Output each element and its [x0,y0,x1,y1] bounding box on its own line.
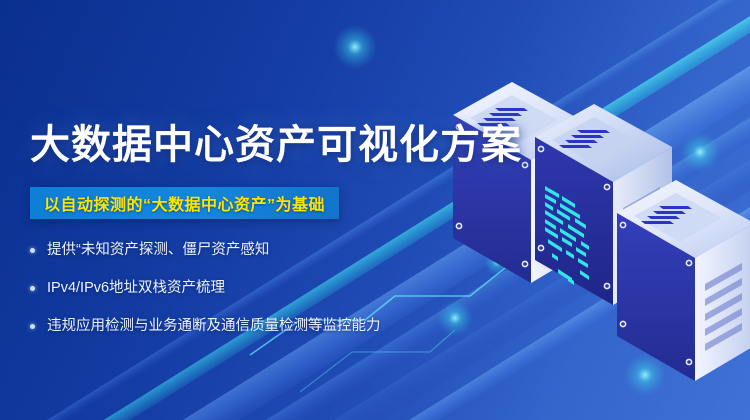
list-item: 违规应用检测与业务通断及通信质量检测等监控能力 [30,312,381,340]
list-item: IPv4/IPv6地址双栈资产梳理 [30,274,381,302]
list-item: 提供“未知资产探测、僵尸资产感知 [30,236,381,264]
bullet-text: IPv4/IPv6地址双栈资产梳理 [47,278,225,298]
text-content-column: 大数据中心资产可视化方案 以自动探测的“大数据中心资产”为基础 提供“未知资产探… [0,0,470,420]
promo-banner: 大数据中心资产可视化方案 以自动探测的“大数据中心资产”为基础 提供“未知资产探… [0,0,750,420]
bullet-dot-icon [30,286,35,291]
bullet-dot-icon [30,248,35,253]
server-rack-left [453,82,590,283]
server-rack-middle [535,104,672,305]
subtitle-banner: 以自动探测的“大数据中心资产”为基础 [30,187,339,219]
bullet-text: 提供“未知资产探测、僵尸资产感知 [47,240,269,260]
bullet-dot-icon [30,324,35,329]
subtitle-text: 以自动探测的“大数据中心资产”为基础 [44,191,325,215]
feature-bullet-list: 提供“未知资产探测、僵尸资产感知 IPv4/IPv6地址双栈资产梳理 违规应用检… [30,236,381,350]
bullet-text: 违规应用检测与业务通断及通信质量检测等监控能力 [47,316,381,336]
page-title: 大数据中心资产可视化方案 [30,122,522,168]
server-rack-right [617,180,750,381]
